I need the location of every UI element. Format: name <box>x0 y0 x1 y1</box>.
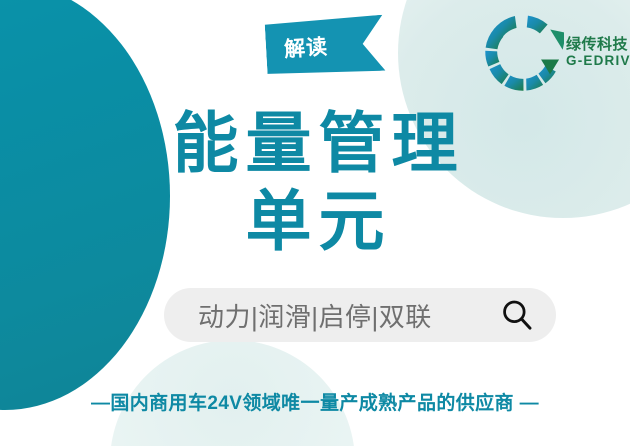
logo-wordmark: 绿传科技 G-EDRIVE <box>566 37 630 68</box>
poster-canvas: 解读 <box>0 0 630 446</box>
segmented-c-logo-icon <box>482 12 564 94</box>
brand-logo: 绿传科技 G-EDRIVE <box>482 8 622 98</box>
search-icon[interactable] <box>500 298 534 332</box>
page-title-line-2: 单元 <box>0 182 630 260</box>
search-bar[interactable]: 动力|润滑|启停|双联 <box>164 288 556 342</box>
tagline: —国内商用车24V领域唯一量产成熟产品的供应商 — <box>0 388 630 415</box>
page-title-line-1: 能量管理 <box>0 104 630 182</box>
page-title: 能量管理 单元 <box>0 104 630 260</box>
ribbon-label: 解读 <box>283 31 329 64</box>
logo-name-en: G-EDRIVE <box>566 54 630 69</box>
logo-name-cn: 绿传科技 <box>566 37 630 54</box>
search-input[interactable]: 动力|润滑|启停|双联 <box>198 297 494 334</box>
ribbon-badge: 解读 <box>265 15 386 77</box>
